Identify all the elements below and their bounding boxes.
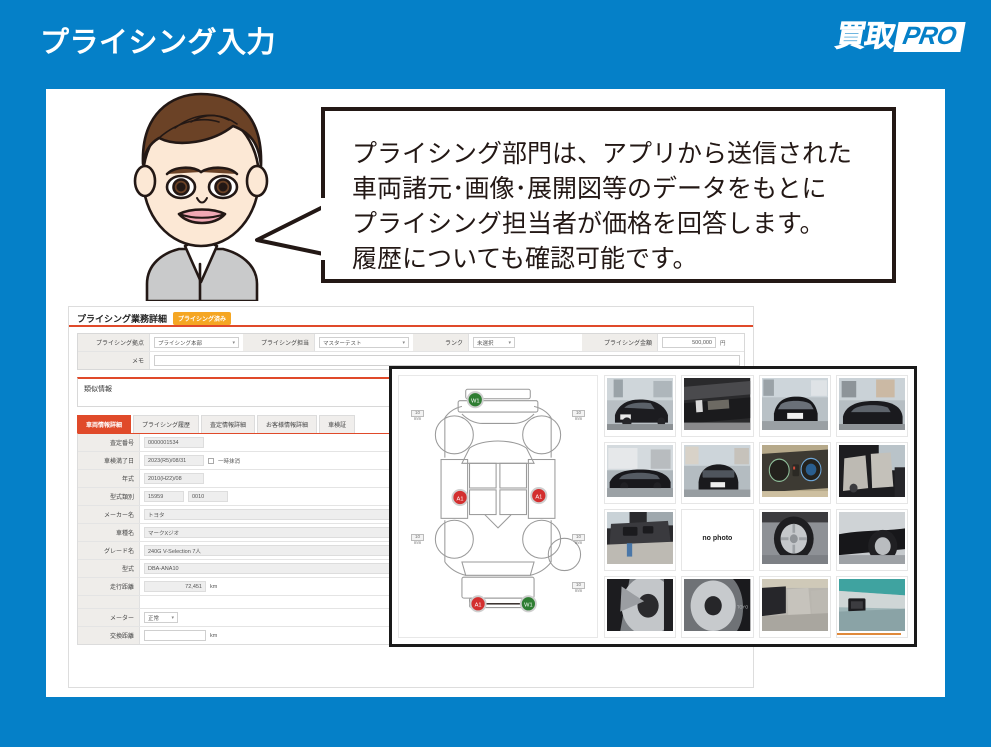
car-model-input[interactable]: マークXジオ <box>144 527 407 538</box>
mm-tag-unit: mm <box>575 540 583 545</box>
mm-tag-front-right: 10 mm <box>572 410 585 422</box>
model-class-input-2[interactable]: 0010 <box>188 491 228 502</box>
meter-select[interactable]: 正常 ▾ <box>144 612 178 623</box>
appraisal-no-input[interactable]: 0000001534 <box>144 437 204 448</box>
no-photo-text: no photo <box>684 512 750 564</box>
replace-distance-label: 交換距離 <box>78 627 140 644</box>
svg-text:W1: W1 <box>471 399 480 405</box>
photo-thumbnail <box>607 579 673 631</box>
model-code-cell: DBA-ANA10 <box>140 560 411 577</box>
chevron-down-icon: ▾ <box>402 340 405 346</box>
appraisal-no-label: 査定番号 <box>78 434 140 451</box>
pricing-amount-label: プライシング金額 <box>582 334 658 351</box>
car-model-cell: マークXジオ <box>140 524 411 541</box>
photo-pane-underline <box>836 633 901 635</box>
svg-text:A1: A1 <box>475 603 482 609</box>
photo-row-1 <box>604 375 908 437</box>
model-code-label: 型式 <box>78 560 140 577</box>
mileage-unit: km <box>210 584 217 590</box>
photo-thumbnail: TOYO <box>684 579 750 631</box>
mm-tag-unit: mm <box>414 416 422 421</box>
photo-cell-front-seats-interior[interactable] <box>836 442 908 504</box>
inspection-expiry-input[interactable]: 2023(R5)/08/31 <box>144 455 204 466</box>
meter-label: メーター <box>78 609 140 626</box>
photo-thumbnail <box>762 512 828 564</box>
vehicle-media-overlay-panel: W1 A1 A1 A1 W1 10 mm 10 mm 10 mm 10 m <box>389 366 917 647</box>
field-row-inspection-expiry: 車検満了日 2023(R5)/08/31 一時抹消 <box>78 452 411 470</box>
photo-cell-front-wheel[interactable] <box>759 509 831 571</box>
grade-cell: 240G V-Selection 7人 <box>140 542 411 559</box>
chevron-down-icon: ▾ <box>171 615 174 621</box>
temporary-deregistration-label: 一時抹消 <box>218 457 240 465</box>
photo-thumbnail <box>684 378 750 430</box>
tab-appraisal-detail[interactable]: 査定情報詳細 <box>201 415 255 433</box>
photo-cell-front-view[interactable] <box>759 375 831 437</box>
pricing-staff-select[interactable]: マスターテスト ▾ <box>319 337 409 348</box>
photo-cell-wheel-closeup-left[interactable] <box>604 576 676 638</box>
tab-vehicle-detail[interactable]: 車両情報詳細 <box>77 415 131 433</box>
detail-column-left: 査定番号 0000001534 車検満了日 2023(R5)/08/31 一時抹… <box>78 434 412 644</box>
maker-label: メーカー名 <box>78 506 140 523</box>
tab-pricing-history[interactable]: プライシング履歴 <box>133 415 199 433</box>
vehicle-photo-grid: no photo <box>604 375 908 638</box>
photo-cell-no-photo-placeholder[interactable]: no photo <box>681 509 753 571</box>
page-title: プライシング入力 <box>40 19 276 61</box>
tab-customer-detail[interactable]: お客様情報詳細 <box>257 415 317 433</box>
photo-thumbnail <box>839 579 905 631</box>
rank-value-cell: 未選択 ▾ <box>469 334 582 351</box>
field-row-spacer <box>78 596 411 609</box>
app-titlebar: プライシング業務詳細 プライシング済み <box>69 307 753 327</box>
mileage-label: 走行距離 <box>78 578 140 595</box>
photo-cell-side-profile[interactable] <box>604 442 676 504</box>
speech-bubble-text: プライシング部門は、アプリから送信された 車両諸元･画像･展開図等のデータをもと… <box>352 136 852 276</box>
photo-thumbnail <box>684 445 750 497</box>
meter-select-value: 正常 <box>148 614 159 622</box>
photo-cell-undercarriage-plate[interactable] <box>681 375 753 437</box>
mm-tag-rear-left: 10 mm <box>411 534 424 546</box>
photo-thumbnail <box>839 445 905 497</box>
model-year-input[interactable]: 2010(H22)/08 <box>144 473 204 484</box>
model-code-input[interactable]: DBA-ANA10 <box>144 563 407 574</box>
inspection-expiry-label: 車検満了日 <box>78 452 140 469</box>
pricing-base-select[interactable]: プライシング本部 ▾ <box>154 337 239 348</box>
replace-distance-cell: km <box>140 627 221 644</box>
photo-thumbnail <box>839 512 905 564</box>
photo-cell-drive-recorder[interactable] <box>836 576 908 638</box>
app-page-title: プライシング業務詳細 <box>77 312 167 325</box>
speech-bubble: プライシング部門は、アプリから送信された 車両諸元･画像･展開図等のデータをもと… <box>321 107 896 283</box>
pricing-base-select-value: プライシング本部 <box>158 339 202 347</box>
photo-thumbnail <box>607 445 673 497</box>
model-year-cell: 2010(H22)/08 <box>140 470 208 487</box>
car-model-label: 車種名 <box>78 524 140 541</box>
field-row-car-model: 車種名 マークXジオ <box>78 524 411 542</box>
grade-label: グレード名 <box>78 542 140 559</box>
memo-label: メモ <box>78 352 150 369</box>
photo-cell-front-left-exterior[interactable] <box>604 375 676 437</box>
photo-cell-dashboard-interior[interactable] <box>604 509 676 571</box>
mm-tag-unit: mm <box>414 540 422 545</box>
photo-thumbnail <box>762 579 828 631</box>
photo-cell-rear-wheel-arch[interactable] <box>836 509 908 571</box>
model-class-input-1[interactable]: 15959 <box>144 491 184 502</box>
pricing-amount-unit: 円 <box>720 339 726 347</box>
memo-input[interactable] <box>154 355 740 366</box>
pricing-amount-value-cell: 500,000 円 <box>658 334 744 351</box>
model-class-cell: 15959 0010 <box>140 488 232 505</box>
photo-cell-instrument-cluster[interactable] <box>759 442 831 504</box>
photo-row-3: no photo <box>604 509 908 571</box>
field-row-replace-distance: 交換距離 km <box>78 627 411 644</box>
svg-text:A1: A1 <box>457 496 464 502</box>
pricing-form: プライシング拠点 プライシング本部 ▾ プライシング担当 マスターテスト ▾ ラ… <box>77 333 745 370</box>
photo-thumbnail <box>839 378 905 430</box>
pricing-form-row-1: プライシング拠点 プライシング本部 ▾ プライシング担当 マスターテスト ▾ ラ… <box>78 334 744 352</box>
photo-cell-rear-quarter-view[interactable] <box>836 375 908 437</box>
replace-distance-input[interactable] <box>144 630 206 641</box>
field-row-meter: メーター 正常 ▾ <box>78 609 411 627</box>
pricing-base-label: プライシング拠点 <box>78 334 150 351</box>
photo-thumbnail <box>607 378 673 430</box>
mm-tag-spare: 10 mm <box>572 582 585 594</box>
tab-inspection-cert[interactable]: 車検証 <box>319 415 355 433</box>
vehicle-damage-diagram-pane[interactable]: W1 A1 A1 A1 W1 10 mm 10 mm 10 mm 10 m <box>398 375 598 638</box>
maker-input[interactable]: トヨタ <box>144 509 407 520</box>
mm-tag-unit: mm <box>575 416 583 421</box>
field-row-mileage: 走行距離 72,451 km <box>78 578 411 596</box>
appraisal-no-cell: 0000001534 <box>140 434 208 451</box>
brand-pro-text: PRO <box>894 22 966 52</box>
pricing-base-value-cell: プライシング本部 ▾ <box>150 334 243 351</box>
photo-thumbnail <box>762 445 828 497</box>
field-row-model-class: 型式類別 15959 0010 <box>78 488 411 506</box>
photo-row-4: TOYO <box>604 576 908 638</box>
status-badge: プライシング済み <box>173 312 231 325</box>
rank-label: ランク <box>413 334 469 351</box>
model-year-label: 年式 <box>78 470 140 487</box>
svg-text:A1: A1 <box>535 494 542 500</box>
brand-logo: 買取 PRO <box>834 22 966 52</box>
rank-select-value: 未選択 <box>477 339 494 347</box>
field-row-grade: グレード名 240G V-Selection 7人 <box>78 542 411 560</box>
pricing-staff-value-cell: マスターテスト ▾ <box>315 334 413 351</box>
temporary-deregistration-checkbox[interactable] <box>208 458 214 464</box>
replace-distance-unit: km <box>210 633 217 639</box>
photo-thumbnail <box>607 512 673 564</box>
model-class-label: 型式類別 <box>78 488 140 505</box>
meter-cell: 正常 ▾ <box>140 609 182 626</box>
vehicle-diagram-svg: W1 A1 A1 A1 W1 <box>399 376 597 637</box>
pricing-staff-label: プライシング担当 <box>243 334 315 351</box>
photo-row-2 <box>604 442 908 504</box>
spacer-label <box>78 596 140 608</box>
photo-thumbnail <box>762 378 828 430</box>
spacer-cell <box>140 596 411 608</box>
svg-text:TOYO: TOYO <box>737 604 749 609</box>
svg-text:W1: W1 <box>524 603 533 609</box>
grade-input[interactable]: 240G V-Selection 7人 <box>144 545 407 556</box>
field-row-model-year: 年式 2010(H22)/08 <box>78 470 411 488</box>
mm-tag-rear-right: 10 mm <box>572 534 585 546</box>
mileage-input[interactable]: 72,451 <box>144 581 206 592</box>
presenter-character-illustration <box>101 86 302 301</box>
brand-kanji-text: 買取 <box>834 22 897 52</box>
chevron-down-icon: ▾ <box>232 340 235 346</box>
field-row-appraisal-no: 査定番号 0000001534 <box>78 434 411 452</box>
pricing-amount-input[interactable]: 500,000 <box>662 337 716 348</box>
field-row-model-code: 型式 DBA-ANA10 <box>78 560 411 578</box>
photo-cell-rear-view[interactable] <box>681 442 753 504</box>
mm-tag-front-left: 10 mm <box>411 410 424 422</box>
field-row-maker: メーカー名 トヨタ <box>78 506 411 524</box>
rank-select[interactable]: 未選択 ▾ <box>473 337 515 348</box>
photo-cell-wheel-closeup-right[interactable]: TOYO <box>681 576 753 638</box>
photo-cell-rear-seats-interior[interactable] <box>759 576 831 638</box>
chevron-down-icon: ▾ <box>508 340 511 346</box>
inspection-expiry-cell: 2023(R5)/08/31 一時抹消 <box>140 452 244 469</box>
maker-cell: トヨタ <box>140 506 411 523</box>
mileage-cell: 72,451 km <box>140 578 221 595</box>
mm-tag-unit: mm <box>575 588 583 593</box>
speech-bubble-tail <box>255 198 335 260</box>
pricing-staff-select-value: マスターテスト <box>323 339 362 347</box>
